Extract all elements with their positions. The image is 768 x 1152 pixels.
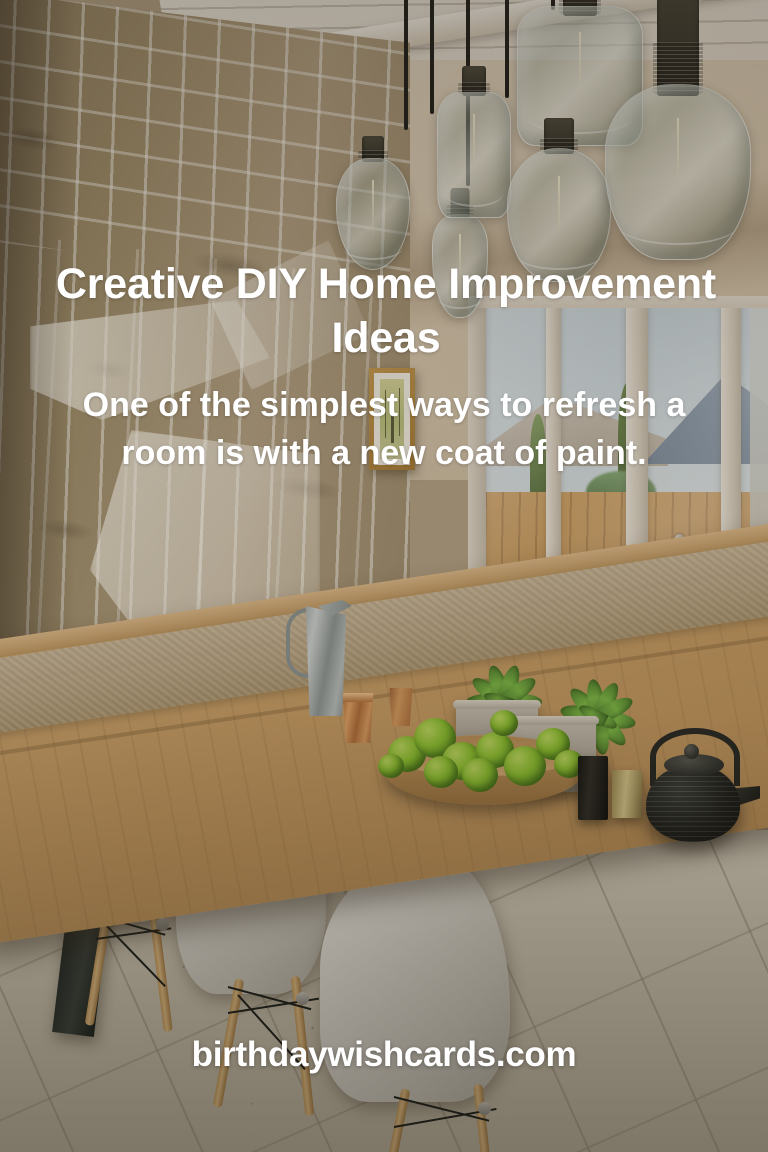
site-watermark: birthdaywishcards.com [0, 1037, 768, 1072]
pinterest-style-image-card: Creative DIY Home Improvement Ideas One … [0, 0, 768, 1152]
text-overlay: Creative DIY Home Improvement Ideas One … [0, 0, 768, 1152]
subheadline: One of the simplest ways to refresh a ro… [74, 382, 694, 477]
headline: Creative DIY Home Improvement Ideas [0, 258, 768, 366]
